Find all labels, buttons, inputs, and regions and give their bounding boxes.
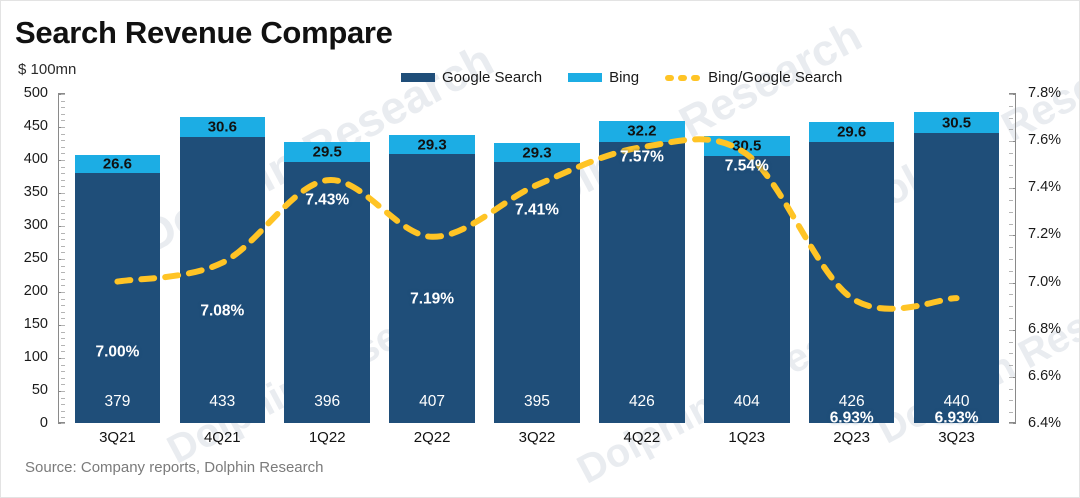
y-axis-right-minor-tick xyxy=(1009,330,1013,331)
y-axis-right-tick-label: 7.0% xyxy=(1028,274,1061,290)
ratio-value-label: 7.00% xyxy=(63,344,172,360)
bar-group[interactable]: 42629.6 xyxy=(809,93,894,423)
bar-value-label-google-search: 433 xyxy=(180,394,265,410)
y-axis-left-tick-label: 250 xyxy=(24,250,48,266)
y-axis-right-minor-tick xyxy=(1009,94,1013,95)
y-axis-right-minor-tick xyxy=(1009,247,1013,248)
y-axis-right-tick-label: 7.8% xyxy=(1028,85,1061,101)
ratio-value-label: 7.57% xyxy=(587,149,696,165)
bar-segment-bing[interactable]: 29.3 xyxy=(389,135,474,154)
legend-dashed-line-icon xyxy=(665,75,701,81)
ratio-value-label: 7.08% xyxy=(168,303,277,319)
bar-group[interactable]: 37926.6 xyxy=(75,93,160,423)
bar-segment-google-search[interactable]: 440 xyxy=(914,133,999,423)
plot-area: 050100150200250300350400450500 6.4%6.6%6… xyxy=(58,93,1016,423)
bar-value-label-bing: 29.5 xyxy=(284,144,369,159)
y-axis-right-tick-label: 6.4% xyxy=(1028,415,1061,431)
x-axis-tick-label: 3Q22 xyxy=(485,429,590,446)
y-axis-left-tick-label: 150 xyxy=(24,316,48,332)
y-axis-right-minor-tick xyxy=(1009,259,1013,260)
bar-group[interactable]: 39529.3 xyxy=(494,93,579,423)
y-axis-left-tick-label: 200 xyxy=(24,283,48,299)
y-axis-right-minor-tick xyxy=(1009,377,1013,378)
legend-swatch-google-search xyxy=(401,73,435,82)
bar-group[interactable]: 40729.3 xyxy=(389,93,474,423)
x-axis-tick-label: 2Q23 xyxy=(799,429,904,446)
bar-segment-bing[interactable]: 29.6 xyxy=(809,122,894,142)
y-axis-right-tick-label: 7.4% xyxy=(1028,179,1061,195)
bar-value-label-google-search: 404 xyxy=(704,394,789,410)
bar-segment-google-search[interactable]: 433 xyxy=(180,137,265,423)
y-axis-right-minor-tick xyxy=(1009,271,1013,272)
bar-value-label-google-search: 379 xyxy=(75,394,160,410)
bar-value-label-google-search: 395 xyxy=(494,394,579,410)
bar-value-label-bing: 30.5 xyxy=(704,139,789,154)
ratio-value-label: 7.41% xyxy=(482,202,591,218)
y-axis-left-tick-label: 100 xyxy=(24,349,48,365)
bar-series-group: 37926.643330.639629.540729.339529.342632… xyxy=(65,93,1009,423)
legend-label-google-search: Google Search xyxy=(442,69,542,86)
y-axis-right-minor-tick xyxy=(1009,153,1013,154)
y-axis-right-minor-tick xyxy=(1009,353,1013,354)
y-axis-left-tick-label: 500 xyxy=(24,85,48,101)
y-axis-right-minor-tick xyxy=(1009,129,1013,130)
bar-value-label-google-search: 396 xyxy=(284,394,369,410)
y-axis-right-minor-tick xyxy=(1009,141,1013,142)
y-axis-right-minor-tick xyxy=(1009,283,1013,284)
bar-value-label-bing: 29.3 xyxy=(494,145,579,160)
bar-segment-bing[interactable]: 32.2 xyxy=(599,121,684,142)
y-axis-right-minor-tick xyxy=(1009,294,1013,295)
x-axis-tick-label: 4Q21 xyxy=(170,429,275,446)
x-axis-tick-label: 4Q22 xyxy=(589,429,694,446)
y-axis-right-tick-label: 7.2% xyxy=(1028,226,1061,242)
chart-container: Dolphin Research Dolphin Research Dolphi… xyxy=(0,0,1080,498)
y-axis-left-tick-label: 400 xyxy=(24,151,48,167)
y-axis-right-minor-tick xyxy=(1009,389,1013,390)
y-axis-right-tick-label: 7.6% xyxy=(1028,132,1061,148)
bar-value-label-bing: 29.3 xyxy=(389,137,474,152)
legend-label-bing-google-ratio: Bing/Google Search xyxy=(708,69,842,86)
x-axis-tick-label: 3Q21 xyxy=(65,429,170,446)
y-axis-right-tick-label: 6.6% xyxy=(1028,368,1061,384)
bar-value-label-bing: 32.2 xyxy=(599,124,684,139)
ratio-value-label: 7.19% xyxy=(377,291,486,307)
y-axis-left xyxy=(58,93,65,423)
bar-value-label-bing: 30.5 xyxy=(914,115,999,130)
ratio-value-label: 7.54% xyxy=(692,159,801,175)
y-axis-right-minor-tick xyxy=(1009,224,1013,225)
bar-segment-bing[interactable]: 29.5 xyxy=(284,142,369,161)
legend-label-bing: Bing xyxy=(609,69,639,86)
legend-item-google-search[interactable]: Google Search xyxy=(401,69,542,86)
legend-swatch-bing xyxy=(568,73,602,82)
bar-segment-bing[interactable]: 30.5 xyxy=(704,136,789,156)
bar-group[interactable]: 42632.2 xyxy=(599,93,684,423)
y-axis-right-minor-tick xyxy=(1009,318,1013,319)
x-axis-tick-label: 1Q22 xyxy=(275,429,380,446)
y-axis-right-minor-tick xyxy=(1009,235,1013,236)
y-axis-left-minor-tick xyxy=(61,423,65,424)
y-axis-right-minor-tick xyxy=(1009,306,1013,307)
legend-item-bing[interactable]: Bing xyxy=(568,69,639,86)
bar-value-label-bing: 26.6 xyxy=(75,157,160,172)
y-axis-right xyxy=(1009,93,1016,423)
y-axis-left-tick-label: 350 xyxy=(24,184,48,200)
bar-value-label-bing: 30.6 xyxy=(180,120,265,135)
bar-value-label-google-search: 426 xyxy=(599,394,684,410)
ratio-value-label: 6.93% xyxy=(797,410,906,426)
bar-value-label-google-search: 407 xyxy=(389,394,474,410)
y-axis-left-tick-label: 50 xyxy=(32,382,48,398)
bar-segment-google-search[interactable]: 407 xyxy=(389,154,474,423)
bar-value-label-bing: 29.6 xyxy=(809,125,894,140)
bar-value-label-google-search: 440 xyxy=(914,394,999,410)
x-axis-labels: 3Q214Q211Q222Q223Q224Q221Q232Q233Q23 xyxy=(65,429,1009,453)
bar-segment-google-search[interactable]: 426 xyxy=(599,142,684,423)
y-axis-left-tick-label: 300 xyxy=(24,217,48,233)
y-axis-right-minor-tick xyxy=(1009,212,1013,213)
page-title: Search Revenue Compare xyxy=(15,15,393,51)
ratio-value-label: 7.43% xyxy=(272,192,381,208)
bar-segment-google-search[interactable]: 426 xyxy=(809,142,894,423)
y-axis-right-minor-tick xyxy=(1009,188,1013,189)
bar-segment-bing[interactable]: 26.6 xyxy=(75,155,160,173)
bar-group[interactable]: 40430.5 xyxy=(704,93,789,423)
bar-segment-bing[interactable]: 29.3 xyxy=(494,143,579,162)
bar-segment-google-search[interactable]: 379 xyxy=(75,173,160,423)
unit-label: $ 100mn xyxy=(18,61,76,78)
y-axis-right-tick-label: 6.8% xyxy=(1028,321,1061,337)
y-axis-right-minor-tick xyxy=(1009,165,1013,166)
y-axis-right-minor-tick xyxy=(1009,400,1013,401)
y-axis-right-minor-tick xyxy=(1009,118,1013,119)
y-axis-right-minor-tick xyxy=(1009,365,1013,366)
ratio-value-label: 6.93% xyxy=(902,410,1011,426)
bar-group[interactable]: 39629.5 xyxy=(284,93,369,423)
legend-item-bing-google-ratio[interactable]: Bing/Google Search xyxy=(665,69,842,86)
x-axis-tick-label: 3Q23 xyxy=(904,429,1009,446)
bar-segment-google-search[interactable]: 404 xyxy=(704,156,789,423)
y-axis-right-minor-tick xyxy=(1009,342,1013,343)
y-axis-left-tick-label: 0 xyxy=(40,415,48,431)
bar-group[interactable]: 44030.5 xyxy=(914,93,999,423)
chart-legend: Google Search Bing Bing/Google Search xyxy=(401,69,842,86)
bar-value-label-google-search: 426 xyxy=(809,394,894,410)
y-axis-right-minor-tick xyxy=(1009,200,1013,201)
bar-group[interactable]: 43330.6 xyxy=(180,93,265,423)
x-axis-tick-label: 1Q23 xyxy=(694,429,799,446)
source-note: Source: Company reports, Dolphin Researc… xyxy=(25,459,323,476)
x-axis-tick-label: 2Q22 xyxy=(380,429,485,446)
y-axis-left-tick-label: 450 xyxy=(24,118,48,134)
y-axis-right-minor-tick xyxy=(1009,177,1013,178)
bar-segment-bing[interactable]: 30.5 xyxy=(914,112,999,132)
y-axis-right-minor-tick xyxy=(1009,106,1013,107)
bar-segment-bing[interactable]: 30.6 xyxy=(180,117,265,137)
